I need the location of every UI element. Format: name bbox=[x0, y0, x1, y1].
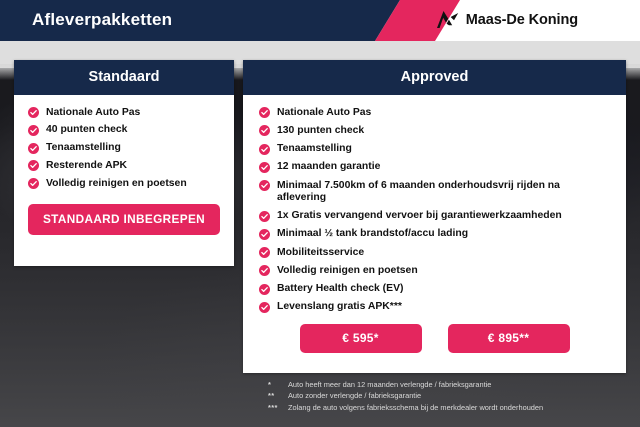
card-body-standaard: Nationale Auto Pas 40 punten check Tenaa… bbox=[14, 95, 234, 245]
check-circle-icon bbox=[259, 125, 270, 136]
check-circle-icon bbox=[259, 144, 270, 155]
check-circle-icon bbox=[259, 107, 270, 118]
card-title-standaard: Standaard bbox=[14, 60, 234, 95]
footnote-text: Zolang de auto volgens fabrieksschema bi… bbox=[288, 402, 628, 413]
list-item: Resterende APK bbox=[28, 159, 220, 172]
list-item: Nationale Auto Pas bbox=[259, 106, 610, 119]
page-root: Afleverpakketten Maas-De Koning Standaar… bbox=[0, 0, 640, 427]
footnote-row: ** Auto zonder verlengde / fabrieksgaran… bbox=[268, 390, 628, 401]
feature-label: 12 maanden garantie bbox=[277, 161, 380, 174]
check-circle-icon bbox=[259, 284, 270, 295]
feature-label: Volledig reinigen en poetsen bbox=[277, 264, 418, 277]
list-item: Battery Health check (EV) bbox=[259, 283, 610, 296]
check-circle-icon bbox=[259, 162, 270, 173]
footnote-marker: *** bbox=[268, 402, 288, 413]
card-title-approved: Approved bbox=[243, 60, 626, 95]
check-circle-icon bbox=[259, 229, 270, 240]
feature-list-approved: Nationale Auto Pas 130 punten check Tena… bbox=[259, 106, 610, 314]
footnotes: * Auto heeft meer dan 12 maanden verleng… bbox=[268, 379, 628, 413]
price-button-895[interactable]: € 895** bbox=[448, 324, 570, 353]
check-circle-icon bbox=[259, 265, 270, 276]
feature-label: Nationale Auto Pas bbox=[46, 106, 140, 119]
check-circle-icon bbox=[259, 180, 270, 191]
feature-label: 130 punten check bbox=[277, 124, 364, 137]
feature-list-standaard: Nationale Auto Pas 40 punten check Tenaa… bbox=[28, 106, 220, 190]
footnote-row: * Auto heeft meer dan 12 maanden verleng… bbox=[268, 379, 628, 390]
feature-label: 1x Gratis vervangend vervoer bij garanti… bbox=[277, 210, 562, 223]
feature-label: Nationale Auto Pas bbox=[277, 106, 371, 119]
list-item: Volledig reinigen en poetsen bbox=[259, 264, 610, 277]
feature-label: Levenslang gratis APK*** bbox=[277, 301, 402, 314]
feature-label: Tenaamstelling bbox=[46, 142, 121, 155]
check-circle-icon bbox=[28, 178, 39, 189]
list-item: 12 maanden garantie bbox=[259, 161, 610, 174]
feature-label: Minimaal 7.500km of 6 maanden onderhouds… bbox=[277, 179, 610, 204]
standaard-inbegrepen-button[interactable]: STANDAARD INBEGREPEN bbox=[28, 204, 220, 235]
footnote-text: Auto heeft meer dan 12 maanden verlengde… bbox=[288, 379, 628, 390]
footnote-marker: ** bbox=[268, 390, 288, 401]
card-body-approved: Nationale Auto Pas 130 punten check Tena… bbox=[243, 95, 626, 361]
list-item: Mobiliteitsservice bbox=[259, 246, 610, 259]
list-item: Tenaamstelling bbox=[28, 142, 220, 155]
check-circle-icon bbox=[259, 247, 270, 258]
list-item: Volledig reinigen en poetsen bbox=[28, 177, 220, 190]
package-card-standaard: Standaard Nationale Auto Pas 40 punten c… bbox=[14, 60, 234, 266]
brand-name: Maas-De Koning bbox=[466, 12, 578, 28]
check-circle-icon bbox=[259, 302, 270, 313]
feature-label: Volledig reinigen en poetsen bbox=[46, 177, 187, 190]
list-item: 1x Gratis vervangend vervoer bij garanti… bbox=[259, 210, 610, 223]
list-item: Minimaal ½ tank brandstof/accu lading bbox=[259, 228, 610, 241]
price-button-row: € 595* € 895** bbox=[259, 324, 610, 353]
footnote-marker: * bbox=[268, 379, 288, 390]
feature-label: Battery Health check (EV) bbox=[277, 283, 403, 296]
page-title: Afleverpakketten bbox=[32, 10, 172, 30]
feature-label: 40 punten check bbox=[46, 124, 127, 137]
check-circle-icon bbox=[28, 160, 39, 171]
footnote-text: Auto zonder verlengde / fabrieksgarantie bbox=[288, 390, 628, 401]
list-item: Nationale Auto Pas bbox=[28, 106, 220, 119]
list-item: 130 punten check bbox=[259, 124, 610, 137]
maas-de-koning-logo-icon bbox=[437, 11, 459, 29]
list-item: 40 punten check bbox=[28, 124, 220, 137]
check-circle-icon bbox=[28, 125, 39, 136]
feature-label: Tenaamstelling bbox=[277, 143, 352, 156]
footnote-row: *** Zolang de auto volgens fabrieksschem… bbox=[268, 402, 628, 413]
feature-label: Minimaal ½ tank brandstof/accu lading bbox=[277, 228, 468, 241]
price-button-595[interactable]: € 595* bbox=[300, 324, 422, 353]
package-card-approved: Approved Nationale Auto Pas 130 punten c… bbox=[243, 60, 626, 373]
list-item: Tenaamstelling bbox=[259, 143, 610, 156]
check-circle-icon bbox=[259, 211, 270, 222]
page-header: Afleverpakketten Maas-De Koning bbox=[0, 0, 640, 41]
list-item: Levenslang gratis APK*** bbox=[259, 301, 610, 314]
feature-label: Resterende APK bbox=[46, 159, 127, 172]
feature-label: Mobiliteitsservice bbox=[277, 246, 364, 259]
check-circle-icon bbox=[28, 107, 39, 118]
check-circle-icon bbox=[28, 143, 39, 154]
brand-lockup: Maas-De Koning bbox=[437, 11, 578, 29]
list-item: Minimaal 7.500km of 6 maanden onderhouds… bbox=[259, 179, 610, 204]
